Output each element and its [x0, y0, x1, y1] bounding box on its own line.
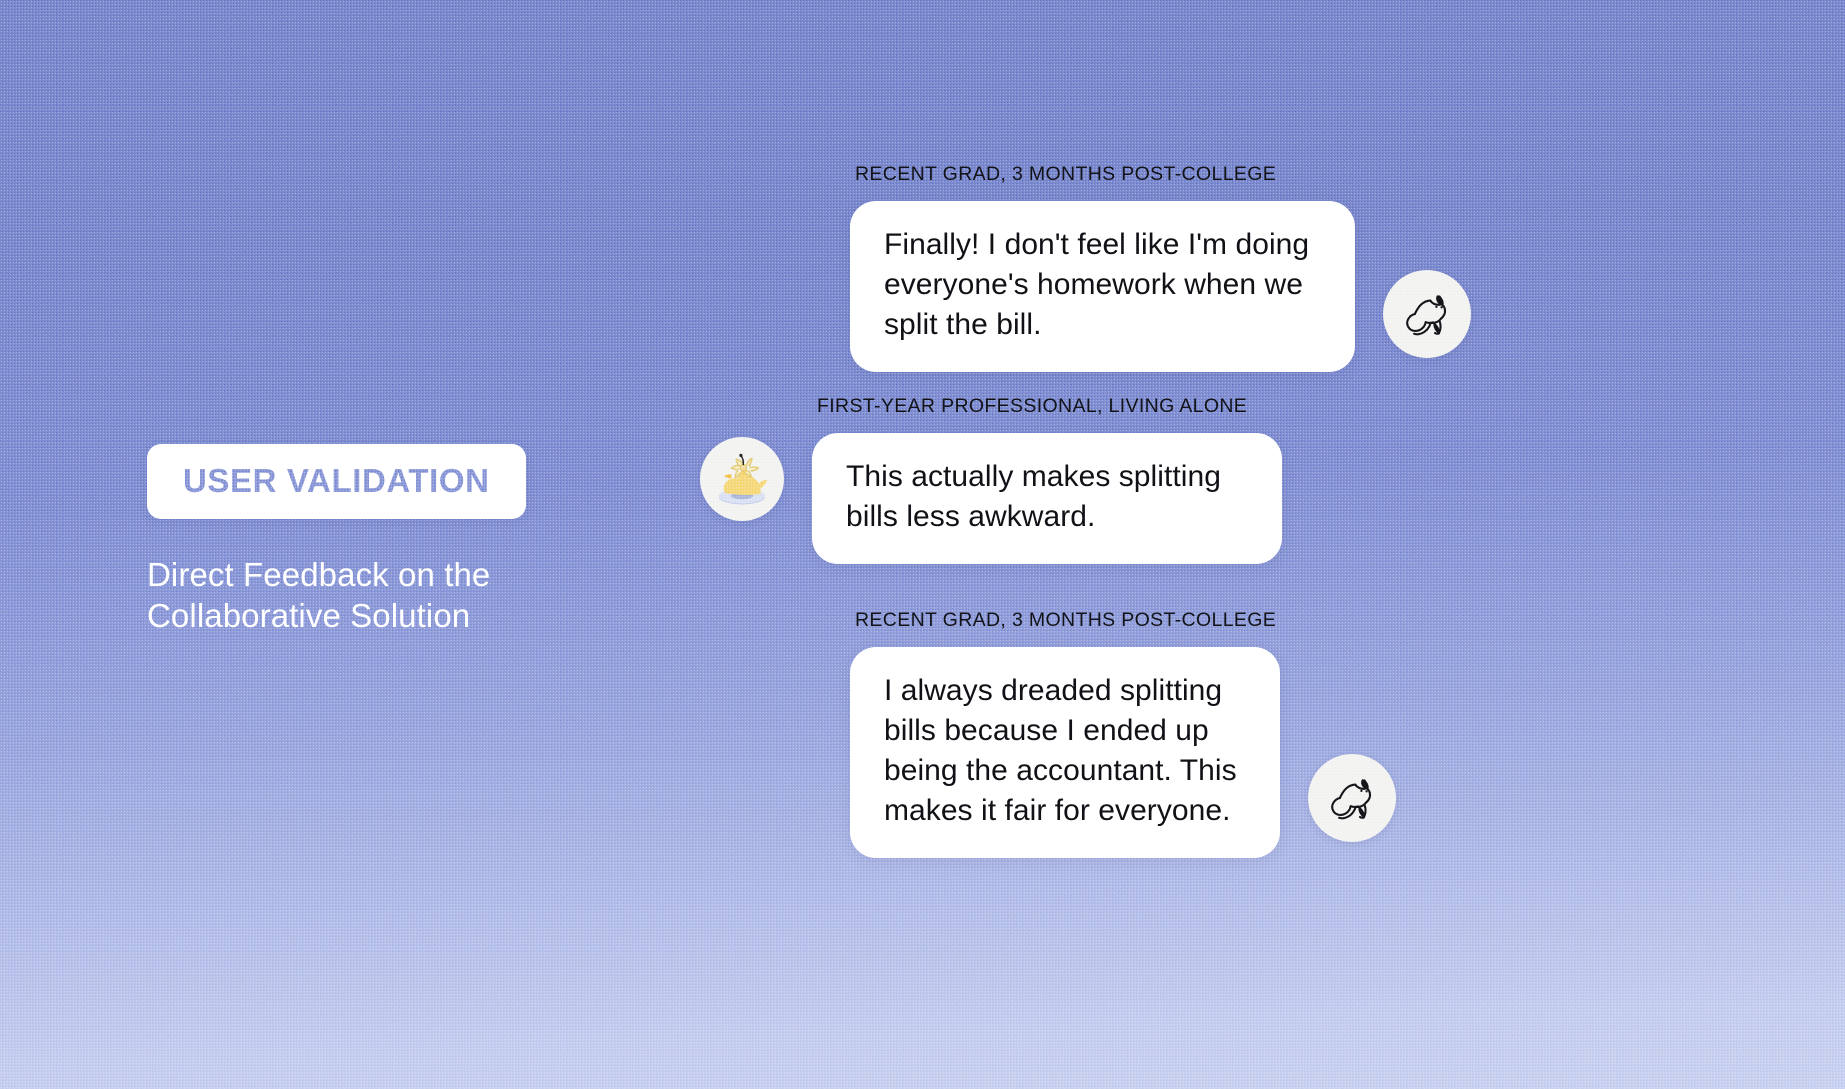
testimonial-quote: I always dreaded splitting bills because…	[884, 671, 1246, 831]
cat-line-art-icon	[1320, 766, 1384, 830]
avatar	[1308, 754, 1396, 842]
testimonial-role-label: FIRST-YEAR PROFESSIONAL, LIVING ALONE	[817, 395, 1282, 418]
user-validation-badge: USER VALIDATION	[147, 444, 526, 519]
slide-canvas: USER VALIDATION Direct Feedback on the C…	[0, 0, 1845, 1089]
rubber-duck-icon	[707, 444, 777, 514]
eyebrow-label: USER VALIDATION	[183, 464, 490, 497]
testimonial-role-label: RECENT GRAD, 3 MONTHS POST-COLLEGE	[855, 609, 1280, 632]
speech-bubble: I always dreaded splitting bills because…	[850, 647, 1280, 858]
testimonial-quote: This actually makes splitting bills less…	[846, 457, 1248, 537]
page-title: Direct Feedback on the Collaborative Sol…	[147, 554, 547, 637]
testimonial-quote: Finally! I don't feel like I'm doing eve…	[884, 225, 1321, 345]
testimonial-card: FIRST-YEAR PROFESSIONAL, LIVING ALONE Th…	[700, 395, 1282, 564]
testimonial-body: RECENT GRAD, 3 MONTHS POST-COLLEGE I alw…	[850, 609, 1280, 858]
testimonial-body: RECENT GRAD, 3 MONTHS POST-COLLEGE Final…	[850, 163, 1355, 372]
cat-line-art-icon	[1395, 282, 1459, 346]
testimonial-card: RECENT GRAD, 3 MONTHS POST-COLLEGE Final…	[850, 163, 1471, 372]
testimonial-list: RECENT GRAD, 3 MONTHS POST-COLLEGE Final…	[700, 0, 1845, 1089]
testimonial-role-label: RECENT GRAD, 3 MONTHS POST-COLLEGE	[855, 163, 1355, 186]
testimonial-card: RECENT GRAD, 3 MONTHS POST-COLLEGE I alw…	[850, 609, 1396, 858]
testimonial-body: FIRST-YEAR PROFESSIONAL, LIVING ALONE Th…	[812, 395, 1282, 564]
speech-bubble: Finally! I don't feel like I'm doing eve…	[850, 201, 1355, 372]
left-column: USER VALIDATION Direct Feedback on the C…	[147, 444, 617, 637]
speech-bubble: This actually makes splitting bills less…	[812, 433, 1282, 564]
avatar	[1383, 270, 1471, 358]
avatar	[700, 437, 784, 521]
